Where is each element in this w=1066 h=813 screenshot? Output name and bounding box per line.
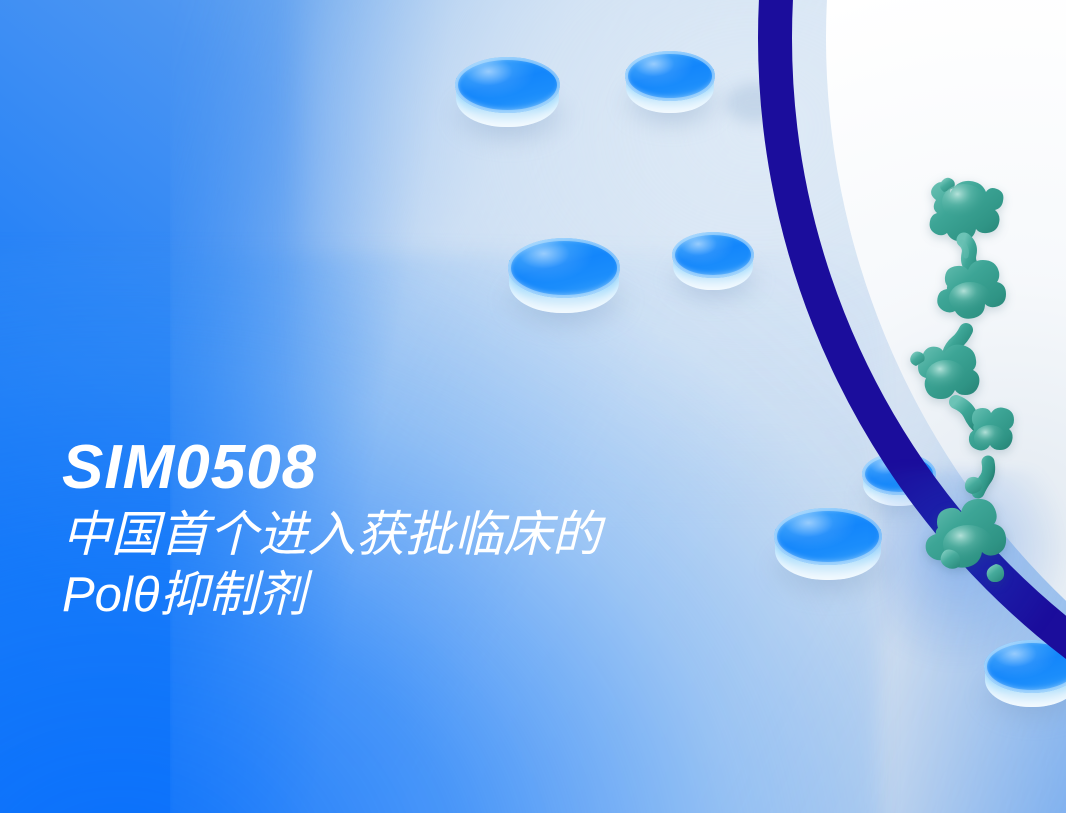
tablet-rim — [455, 57, 560, 113]
protein-molecule-icon — [892, 162, 1042, 582]
subtitle-line-1: 中国首个进入获批临床的 — [62, 506, 882, 566]
tablet-pill — [455, 57, 560, 137]
subtitle-line-2: Polθ抑制剂 — [62, 566, 882, 626]
title-block: SIM0508 中国首个进入获批临床的 Polθ抑制剂 — [62, 437, 882, 626]
tablet-rim — [508, 238, 620, 298]
product-name: SIM0508 — [62, 437, 882, 499]
promotional-banner: SIM0508 中国首个进入获批临床的 Polθ抑制剂 — [0, 0, 1066, 813]
tablet-pill — [508, 238, 620, 323]
